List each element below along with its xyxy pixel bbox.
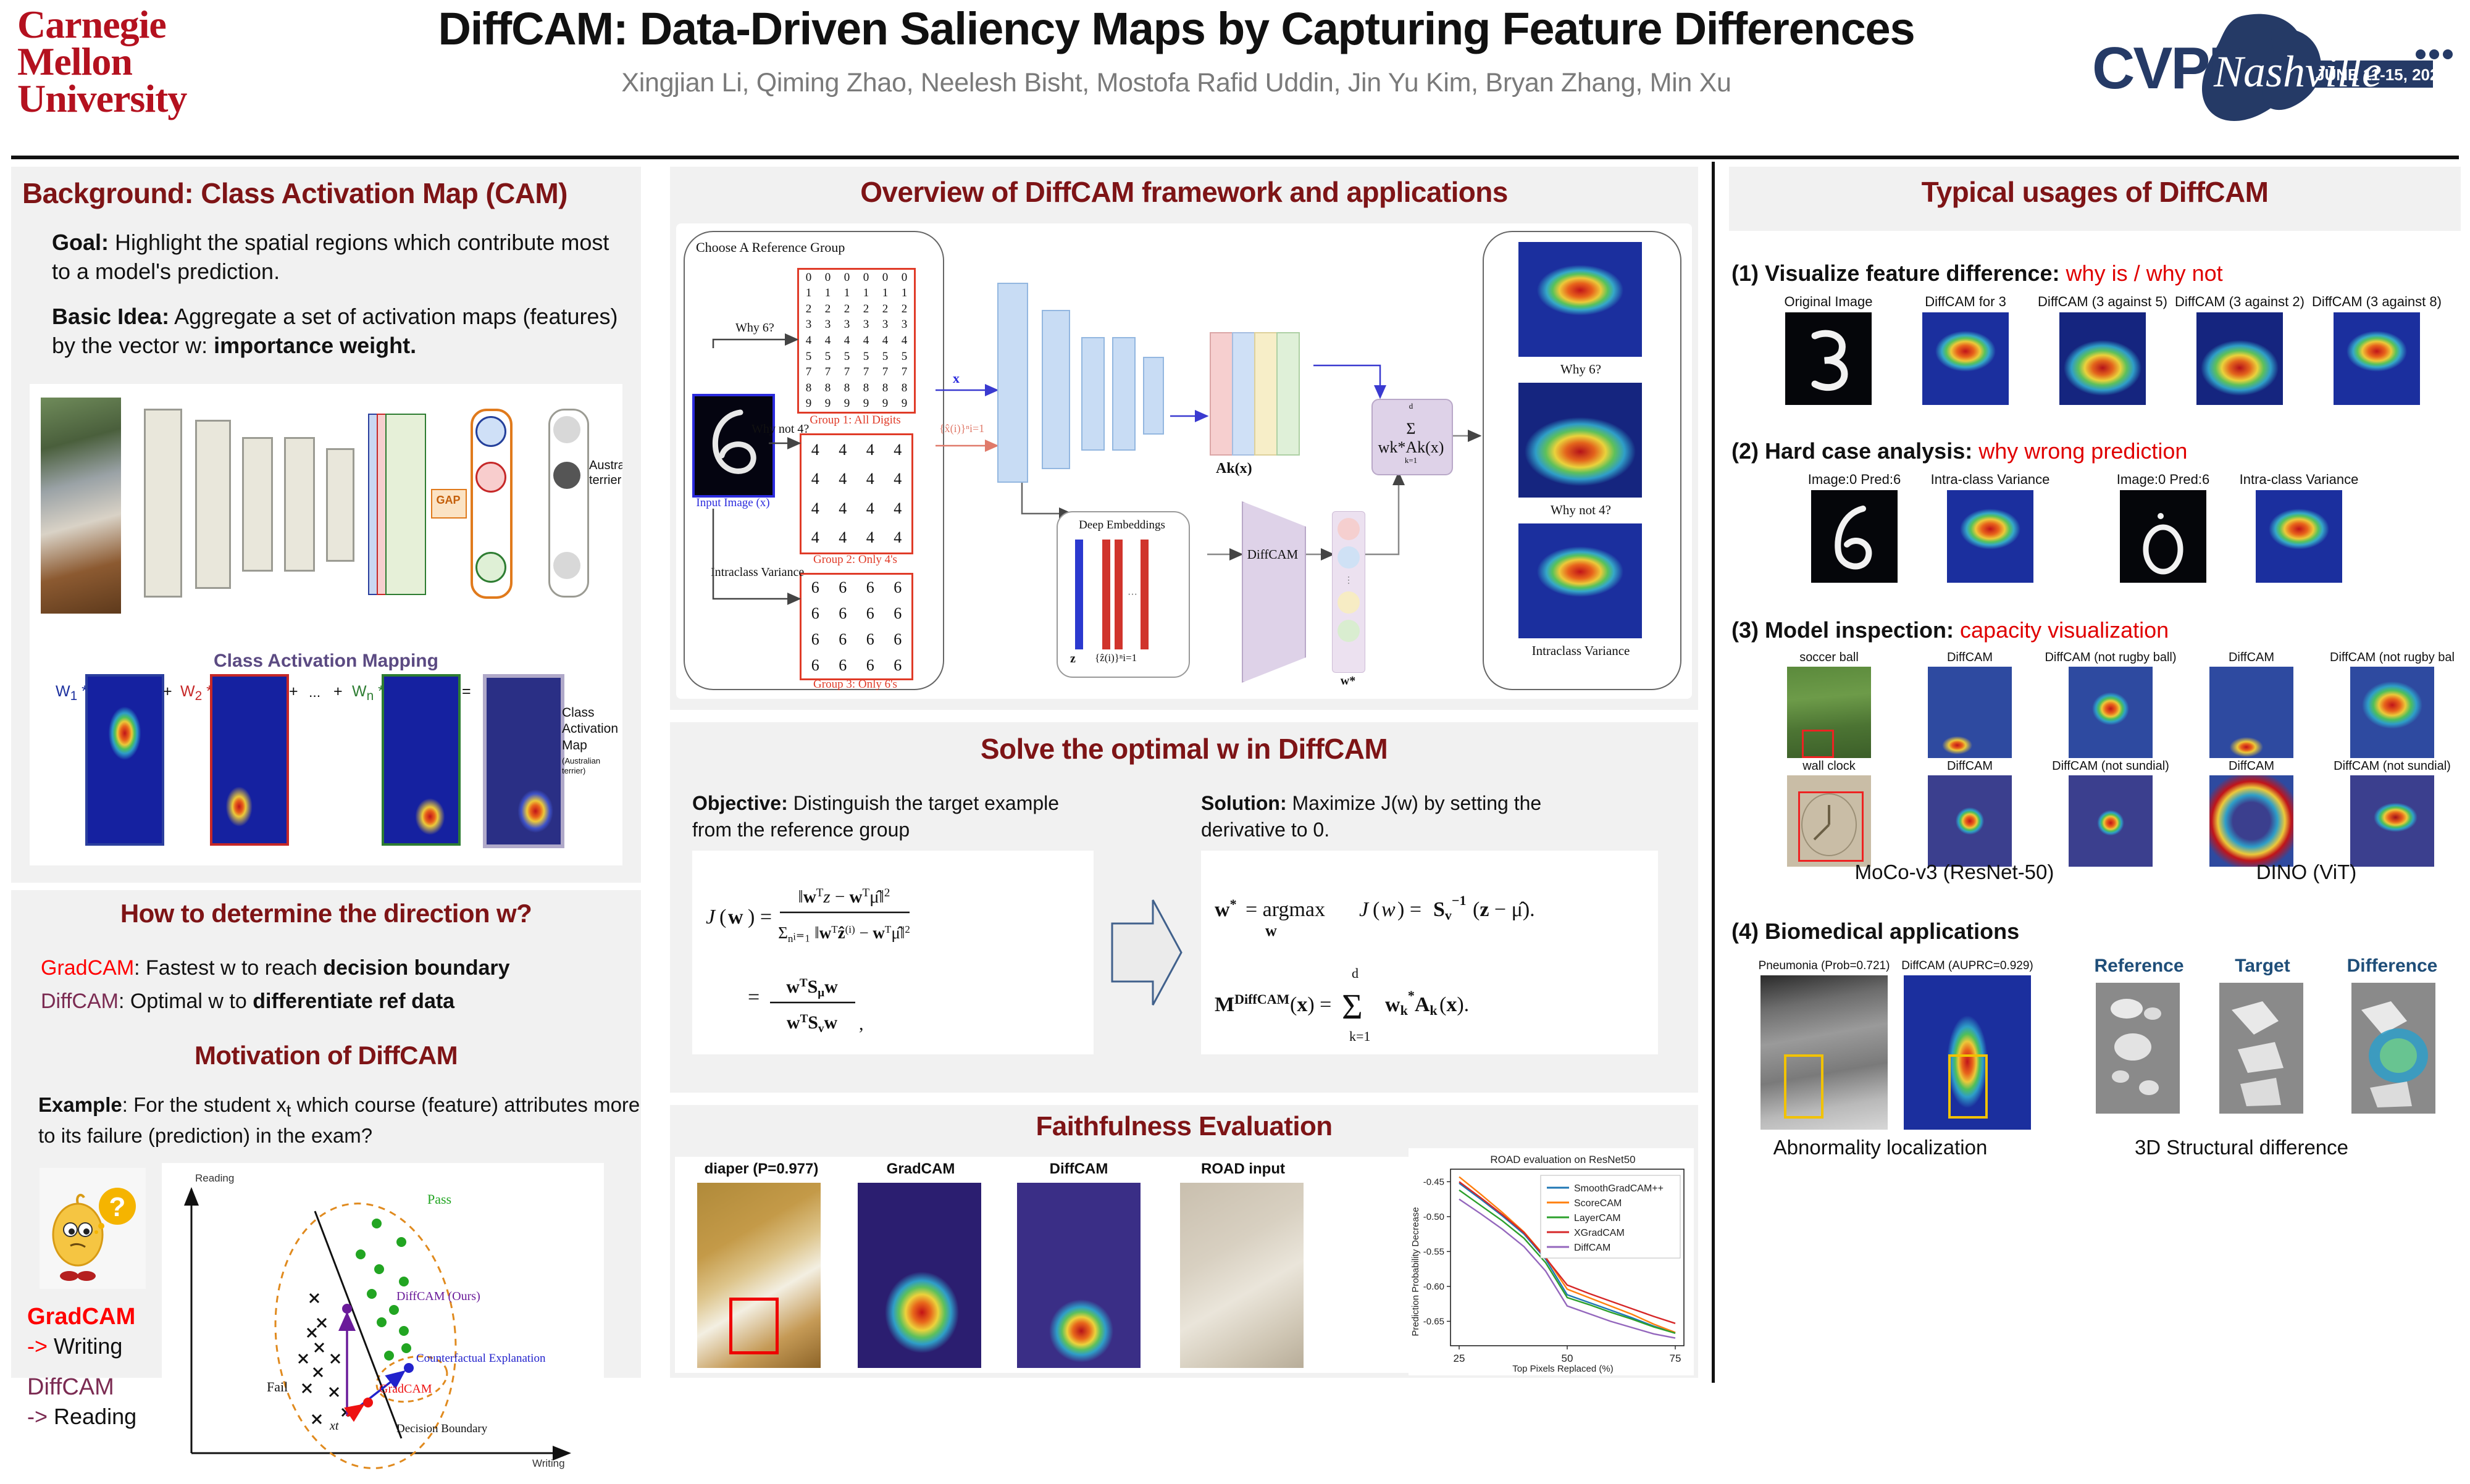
usage-3-r1-caption-4: DiffCAM (not rugby bal: [2322, 651, 2463, 665]
diffcam-block: [1242, 501, 1306, 683]
usages-title-band: Typical usages of DiffCAM: [1729, 167, 2461, 231]
poster-header: Carnegie Mellon University DiffCAM: Data…: [0, 0, 2470, 141]
output-caption-whynot4: Why not 4?: [1483, 502, 1679, 518]
usage-4-3d-reference: [2096, 983, 2180, 1114]
thinking-character-image: ?: [40, 1168, 146, 1289]
cam-class-label: Australian terrier: [589, 458, 622, 488]
scatter-diffcam-label: DiffCAM (Ours): [396, 1290, 480, 1303]
summation-lower: k=1: [1371, 456, 1451, 465]
overview-panel: Overview of DiffCAM framework and applic…: [670, 167, 1698, 710]
output-map-why6: [1518, 242, 1642, 357]
usage-2-thumb-1: [1947, 490, 2033, 583]
usage-2-sep: :: [1965, 438, 1978, 464]
solution-equation-box: w* = argmax J ( w ) = Sv−1 (z − μ̂). w d…: [1201, 851, 1658, 1054]
usage-4-footer-1: 3D Structural difference: [2050, 1136, 2433, 1159]
implies-arrow-icon: [1110, 894, 1184, 1011]
column-divider: [1712, 162, 1715, 1383]
faithfulness-caption-1: GradCAM: [840, 1161, 1001, 1178]
chart-legend-label: DiffCAM: [1574, 1243, 1610, 1253]
solution-text: Solution: Maximize J(w) by setting the d…: [1201, 790, 1596, 843]
goal-body: Highlight the spatial regions which cont…: [52, 230, 609, 284]
usage-3-head: Model inspection: [1765, 617, 1946, 643]
svg-text:=: =: [748, 986, 760, 1009]
svg-text:J: J: [1359, 898, 1370, 921]
ak-x-label: Ak(x): [1216, 461, 1252, 477]
svg-text:w: w: [1265, 922, 1277, 940]
svg-text:‖wTz − wTμ̂‖2: ‖wTz − wTμ̂‖2: [798, 886, 890, 907]
usage-3-r2-caption-0: wall clock: [1759, 759, 1899, 773]
scatter-target-label: xt: [329, 1419, 339, 1433]
usage-2-head: Hard case analysis: [1765, 438, 1965, 464]
gradcam-direction-line: GradCAM: Fastest w to reach decision bou…: [27, 954, 659, 982]
svg-text:-0.45: -0.45: [1423, 1177, 1444, 1187]
svg-text:) =: ) =: [1397, 898, 1421, 921]
cam-weight-n: Wn *: [352, 683, 384, 704]
usage-2-caption-3: Intra-class Variance: [2227, 472, 2371, 488]
diffcam-direction-line: DiffCAM: Optimal w to differentiate ref …: [27, 988, 659, 1015]
usage-3-r1-thumb-1: [1928, 667, 2012, 758]
usage-4-xray-original: [1760, 975, 1888, 1130]
usage-4-xray-diffcam: [1904, 975, 2031, 1130]
cam-weight-1: W1 *: [56, 683, 88, 704]
svg-text:J: J: [706, 906, 716, 928]
svg-text:(: (: [1373, 898, 1379, 921]
svg-text:w: w: [1381, 898, 1396, 921]
svg-text:Σ: Σ: [1342, 986, 1363, 1027]
faithfulness-caption-3: ROAD input: [1163, 1161, 1323, 1178]
faithfulness-image-gradcam: [858, 1183, 981, 1368]
svg-text:Σnᵢ₌₁ ‖wTẑ(i) − wTμ̂‖2: Σnᵢ₌₁ ‖wTẑ(i) − wTμ̂‖2: [778, 923, 910, 944]
usage-4-3d-caption-1: Target: [2201, 956, 2324, 977]
diffcam-desc-bold: differentiate ref data: [253, 990, 454, 1013]
cam-result-caption-1: Class: [562, 705, 622, 721]
usage-1-thumb-4: [2334, 312, 2420, 405]
svg-text:-0.60: -0.60: [1423, 1282, 1444, 1292]
cam-input-photo: [41, 398, 121, 614]
cam-class-label-1: Australian: [589, 458, 622, 473]
usage-3-r2-thumb-4: [2350, 775, 2434, 867]
usage-4-num: (4): [1731, 919, 1759, 944]
usages-section-title: Typical usages of DiffCAM: [1729, 175, 2461, 209]
usage-1-sep: :: [2053, 261, 2066, 286]
usage-1-thumb-3: [2196, 312, 2283, 405]
cam-map-2: [210, 674, 289, 846]
usage-1-caption-4: DiffCAM (3 against 8): [2308, 294, 2445, 310]
scatter-boundary-label: Decision Boundary: [396, 1422, 488, 1435]
usage-3-r2-thumb-0: [1787, 775, 1871, 867]
svg-text:k=1: k=1: [1349, 1028, 1370, 1044]
chart-legend-label: SmoothGradCAM++: [1574, 1183, 1664, 1194]
chart-legend-label: XGradCAM: [1574, 1228, 1625, 1238]
svg-text:(x).: (x).: [1439, 993, 1469, 1016]
output-caption-intraclass: Intraclass Variance: [1483, 643, 1679, 659]
title-block: DiffCAM: Data-Driven Saliency Maps by Ca…: [272, 5, 2081, 98]
cam-map-result: [483, 674, 564, 848]
svg-text:75: 75: [1670, 1353, 1681, 1364]
embedding-bar-z: [1075, 540, 1083, 649]
usage-3-heading: (3) Model inspection: capacity visualiza…: [1731, 617, 2460, 643]
cmu-logo-line-2: Mellon: [17, 43, 264, 80]
cam-result-caption-small: (Australian terrier): [562, 756, 622, 777]
usage-3-r1-thumb-3: [2209, 667, 2293, 758]
svg-text:= argmax: = argmax: [1245, 898, 1325, 921]
usage-4-3d-caption-0: Reference: [2077, 956, 2201, 977]
background-section-title: Background: Class Activation Map (CAM): [11, 167, 641, 215]
svg-text:d: d: [1352, 965, 1358, 981]
usage-3-footer-1: DINO (ViT): [2217, 861, 2396, 884]
cam-map-1: [85, 674, 164, 846]
usage-4-3d-target: [2219, 983, 2303, 1114]
x-symbol: x: [953, 370, 960, 386]
svg-text:w*: w*: [1215, 896, 1237, 921]
usage-3-r1-thumb-0: [1787, 667, 1871, 758]
svg-text:MDiffCAM: MDiffCAM: [1215, 991, 1290, 1016]
faithfulness-caption-2: DiffCAM: [998, 1161, 1159, 1178]
overview-section-title: Overview of DiffCAM framework and applic…: [670, 175, 1698, 209]
gradcam-result-arrow: -> Writing: [27, 1333, 122, 1359]
gradcam-desc-bold: decision boundary: [323, 956, 509, 980]
output-map-intraclass: [1518, 523, 1642, 638]
usage-2-caption-2: Image:0 Pred:6: [2099, 472, 2227, 488]
cam-class-label-2: terrier: [589, 473, 622, 488]
usage-4-heading: (4) Biomedical applications: [1731, 919, 2460, 944]
cmu-logo-line-3: University: [17, 80, 264, 117]
usage-3-num: (3): [1731, 617, 1759, 643]
usage-2-thumb-0: [1811, 490, 1898, 583]
svg-text:-0.50: -0.50: [1423, 1212, 1444, 1222]
svg-text:,: ,: [859, 1014, 864, 1034]
scatter-gradcam-label: GradCAM: [379, 1382, 432, 1396]
svg-text:?: ?: [109, 1192, 126, 1222]
svg-text:) =: ) =: [748, 906, 772, 928]
solve-panel: Solve the optimal w in DiffCAM Objective…: [670, 722, 1698, 1093]
cam-equals: =: [462, 683, 471, 701]
usage-1-caption-0: Original Image: [1760, 294, 1897, 310]
faithfulness-caption-0: diaper (P=0.977): [681, 1161, 842, 1178]
output-caption-why6: Why 6?: [1483, 362, 1679, 377]
output-map-whynot4: [1518, 383, 1642, 498]
faithfulness-image-road: [1180, 1183, 1304, 1368]
svg-text:(: (: [719, 906, 726, 928]
scatter-x-axis-label: Writing: [532, 1457, 565, 1469]
usage-3-accent: capacity visualization: [1960, 617, 2169, 643]
svg-text:Sv−1: Sv−1: [1433, 893, 1466, 923]
motivation-section-title: Motivation of DiffCAM: [11, 1041, 641, 1070]
svg-text:wk*Ak: wk*Ak: [1385, 988, 1438, 1018]
class-activation-mapping-title: Class Activation Mapping: [30, 651, 622, 672]
motivation-scatter-plot: Reading Writing: [162, 1163, 604, 1484]
objective-label: Objective:: [692, 792, 788, 814]
usage-4-footer-0: Abnormality localization: [1735, 1136, 2025, 1159]
example-body-1: : For the student x: [122, 1093, 287, 1116]
usage-4-3d-caption-2: Difference: [2324, 956, 2460, 977]
svg-text:-0.55: -0.55: [1423, 1246, 1444, 1257]
summation-formula: Σ wk*Ak(x): [1371, 420, 1451, 457]
cam-map-n: [382, 674, 461, 846]
usage-1-head: Visualize feature difference: [1765, 261, 2053, 286]
cam-result-caption-3: Map: [562, 738, 622, 754]
usage-1-thumb-1: [1922, 312, 2009, 405]
cvpr-logo: CVPR Nashville JUNE 11-15, 2025: [2087, 11, 2458, 125]
chart-x-axis-label: Top Pixels Replaced (%): [1512, 1364, 1613, 1374]
cam-result-caption-2: Activation: [562, 721, 622, 737]
usage-2-accent: why wrong prediction: [1978, 438, 2187, 464]
xhat-symbol: {x̂(i)}ⁿi=1: [939, 422, 984, 435]
usage-2-num: (2): [1731, 438, 1759, 464]
goal-label: Goal:: [52, 230, 109, 255]
usage-1-caption-1: DiffCAM for 3: [1897, 294, 2034, 310]
svg-text:(x) =: (x) =: [1290, 993, 1331, 1016]
cmu-logo-line-1: Carnegie: [17, 6, 264, 43]
scatter-counterfactual-label: Counterfactual Explanation: [416, 1352, 546, 1365]
header-divider: [11, 156, 2459, 159]
usage-4-head: Biomedical applications: [1765, 919, 2019, 944]
usage-2-caption-0: Image:0 Pred:6: [1791, 472, 1918, 488]
scatter-fail-label: Fail: [267, 1379, 288, 1394]
cmu-logo: Carnegie Mellon University: [17, 6, 264, 130]
basic-idea-bold-tail: importance weight.: [214, 333, 416, 358]
usage-3-r1-caption-0: soccer ball: [1759, 651, 1899, 665]
w-star-label: w*: [1332, 674, 1364, 688]
usage-3-r2-caption-3: DiffCAM: [2181, 759, 2322, 773]
usage-3-r1-caption-1: DiffCAM: [1899, 651, 2040, 665]
gradcam-result-name: GradCAM: [27, 1304, 135, 1330]
usage-3-r2-caption-1: DiffCAM: [1899, 759, 2040, 773]
usage-1-caption-3: DiffCAM (3 against 2): [2171, 294, 2308, 310]
w-star-vector: ⋮: [1332, 511, 1365, 673]
diffcam-block-label: DiffCAM: [1242, 547, 1304, 562]
usage-3-sep: :: [1946, 617, 1960, 643]
chart-legend: SmoothGradCAM++ScoreCAMLayerCAMXGradCAMD…: [1541, 1175, 1680, 1258]
gradcam-name: GradCAM: [41, 956, 134, 980]
middle-column: Overview of DiffCAM framework and applic…: [670, 167, 1698, 1378]
usage-3-r1-thumb-4: [2350, 667, 2434, 758]
usage-3-r1-caption-2: DiffCAM (not rugby ball): [2040, 651, 2181, 665]
page-title: DiffCAM: Data-Driven Saliency Maps by Ca…: [272, 5, 2081, 53]
chart-legend-label: ScoreCAM: [1574, 1198, 1622, 1209]
example-text: Example: For the student xt which course…: [25, 1091, 657, 1149]
usage-3-r2-thumb-2: [2069, 775, 2153, 867]
direction-section-title: How to determine the direction w?: [11, 899, 641, 928]
xray-bbox: [1784, 1054, 1823, 1119]
diffcam-result-arrow: -> Reading: [27, 1404, 136, 1430]
usage-2-thumb-2: [2120, 490, 2206, 583]
faithfulness-section-title: Faithfulness Evaluation: [670, 1111, 1698, 1142]
cam-weight-2: W2 *: [180, 683, 212, 704]
basic-idea-text: Basic Idea: Aggregate a set of activatio…: [38, 302, 634, 361]
svg-text:(z − μ̂).: (z − μ̂).: [1473, 898, 1535, 921]
zhat-symbol: {ẑ(i)}ⁿi=1: [1095, 652, 1137, 664]
svg-text:-0.65: -0.65: [1423, 1316, 1444, 1327]
objective-equation-box: J ( w ) = ‖wTz − wTμ̂‖2 Σnᵢ₌₁ ‖wTẑ(i) − …: [692, 851, 1094, 1054]
svg-text:w: w: [728, 906, 743, 928]
scatter-y-axis-label: Reading: [195, 1172, 234, 1184]
usage-3-r1-thumb-2: [2069, 667, 2153, 758]
deep-embeddings-label: Deep Embeddings: [1059, 519, 1185, 532]
usage-2-gallery: Image:0 Pred:6 Intra-class Variance Imag…: [1791, 472, 2458, 595]
right-column: Typical usages of DiffCAM (1) Visualize …: [1729, 167, 2461, 1378]
faithfulness-images: diaper (P=0.977) GradCAM DiffCAM ROAD in…: [675, 1157, 1410, 1373]
goal-text: Goal: Highlight the spatial regions whic…: [38, 228, 634, 286]
diffcam-desc: : Optimal w to: [119, 990, 253, 1013]
solve-section-title: Solve the optimal w in DiffCAM: [670, 732, 1698, 765]
usage-3-r2-thumb-3: [2209, 775, 2293, 867]
road-evaluation-chart: ROAD evaluation on ResNet50 Prediction P…: [1409, 1148, 1694, 1375]
summation-upper: d: [1371, 401, 1451, 411]
example-label: Example: [38, 1093, 122, 1116]
background-panel: Background: Class Activation Map (CAM) G…: [11, 167, 641, 883]
usage-1-thumb-0: [1785, 312, 1872, 405]
chart-title: ROAD evaluation on ResNet50: [1490, 1154, 1635, 1165]
usage-3-r2-caption-4: DiffCAM (not sundial): [2322, 759, 2463, 773]
usage-1-thumb-2: [2059, 312, 2146, 405]
framework-figure: Choose A Reference Group Input Image (x)…: [676, 223, 1692, 699]
svg-text:50: 50: [1562, 1353, 1573, 1364]
usage-2-heading: (2) Hard case analysis: why wrong predic…: [1731, 438, 2460, 464]
direction-panel: How to determine the direction w? GradCA…: [11, 890, 641, 1378]
svg-text:wTSμw: wTSμw: [786, 977, 838, 999]
usage-3-r1-caption-3: DiffCAM: [2181, 651, 2322, 665]
diffcam-result-name: DiffCAM: [27, 1374, 114, 1401]
usage-3-r2-thumb-1: [1928, 775, 2012, 867]
solution-label: Solution:: [1201, 792, 1287, 814]
basic-idea-label: Basic Idea:: [52, 304, 169, 329]
cam-result-caption: Class Activation Map (Australian terrier…: [562, 705, 622, 776]
usage-3-footer-0: MoCo-v3 (ResNet-50): [1849, 861, 2059, 884]
usage-1-accent: why is / why not: [2066, 261, 2223, 286]
svg-text:wTSvw: wTSvw: [787, 1012, 838, 1035]
usage-4-bio-caption-0: Pneumonia (Prob=0.721): [1756, 959, 1892, 973]
usage-2-thumb-3: [2256, 490, 2342, 583]
cam-plus-2: +: [289, 683, 298, 701]
gradcam-desc: : Fastest w to reach: [134, 956, 323, 980]
chart-y-axis-label: Prediction Probability Decrease: [1410, 1207, 1421, 1336]
faithfulness-panel: Faithfulness Evaluation diaper (P=0.977)…: [670, 1105, 1698, 1378]
usage-1-num: (1): [1731, 261, 1759, 286]
usage-1-gallery: Original Image DiffCAM for 3 DiffCAM (3 …: [1760, 294, 2458, 417]
usage-4-3d-difference: [2351, 983, 2435, 1114]
usage-3-r2-caption-2: DiffCAM (not sundial): [2040, 759, 2181, 773]
cam-plus-3: +: [333, 683, 343, 701]
faithfulness-image-diffcam: [1017, 1183, 1141, 1368]
faithfulness-image-original: [697, 1183, 821, 1368]
scatter-pass-label: Pass: [427, 1191, 451, 1207]
gap-label: GAP: [432, 494, 464, 507]
left-column: Background: Class Activation Map (CAM) G…: [11, 167, 641, 1378]
z-symbol: z: [1070, 652, 1076, 666]
usage-2-caption-1: Intra-class Variance: [1918, 472, 2062, 488]
usage-1-caption-2: DiffCAM (3 against 5): [2034, 294, 2171, 310]
usage-1-heading: (1) Visualize feature difference: why is…: [1731, 261, 2460, 286]
usage-4-bio-caption-1: DiffCAM (AUPRC=0.929): [1899, 959, 2035, 973]
author-list: Xingjian Li, Qiming Zhao, Neelesh Bisht,…: [272, 68, 2081, 98]
cvpr-logo-dates: JUNE 11-15, 2025: [2316, 65, 2448, 84]
cam-dots: ...: [309, 684, 320, 701]
chart-legend-label: LayerCAM: [1574, 1213, 1621, 1223]
bbox-highlight: [729, 1298, 779, 1354]
objective-text: Objective: Distinguish the target exampl…: [692, 790, 1075, 843]
diffcam-name: DiffCAM: [41, 990, 119, 1013]
svg-text:25: 25: [1454, 1353, 1465, 1364]
cam-figure: GAP Australian terrier Class Activation …: [30, 384, 622, 865]
cam-plus-1: +: [163, 683, 172, 701]
